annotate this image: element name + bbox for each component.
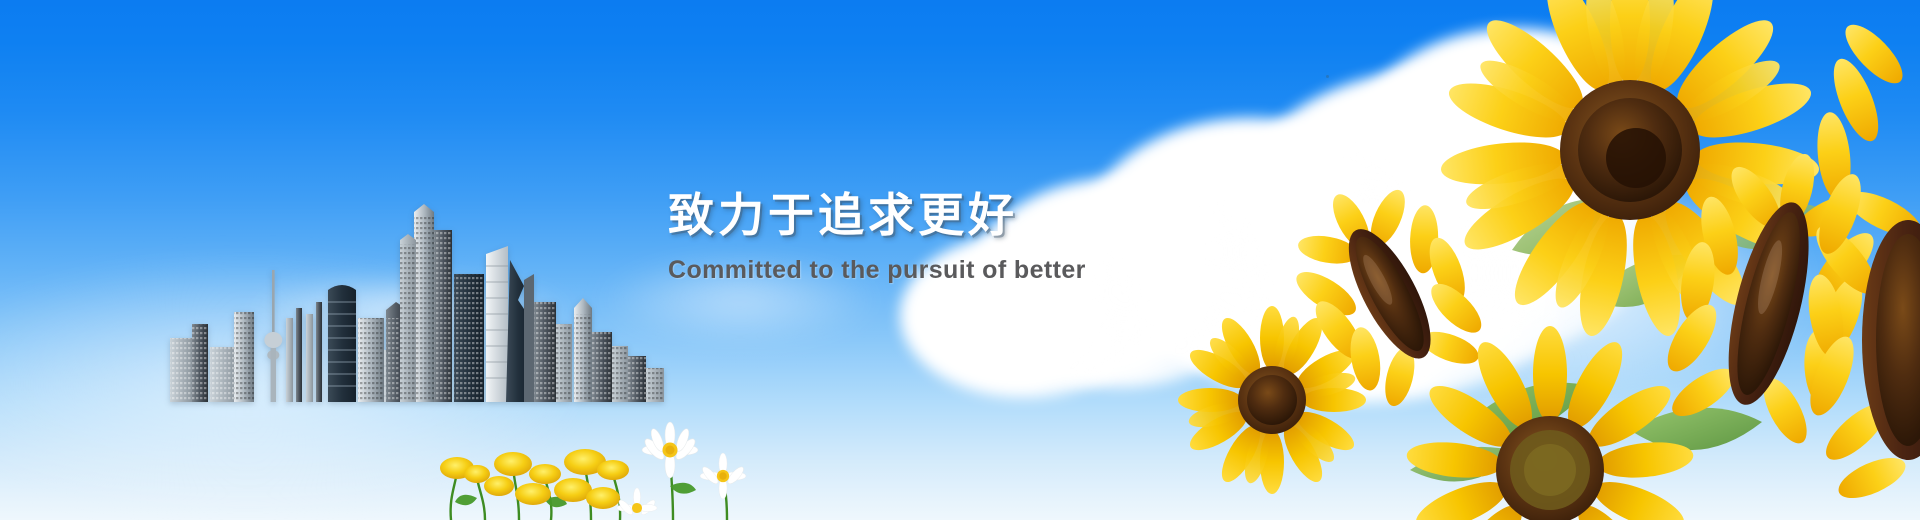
page-title: 致力于追求更好: [668, 188, 1228, 242]
hero-banner: 致力于追求更好 Committed to the pursuit of bett…: [0, 0, 1920, 520]
banner-copy: 致力于追求更好 Committed to the pursuit of bett…: [668, 188, 1228, 285]
page-subtitle: Committed to the pursuit of better: [668, 256, 1228, 285]
meadow-flowers: [415, 390, 775, 520]
city-skyline: [168, 142, 668, 402]
sunflower: [1801, 183, 1920, 506]
sunflower-cluster: [1160, 0, 1920, 520]
